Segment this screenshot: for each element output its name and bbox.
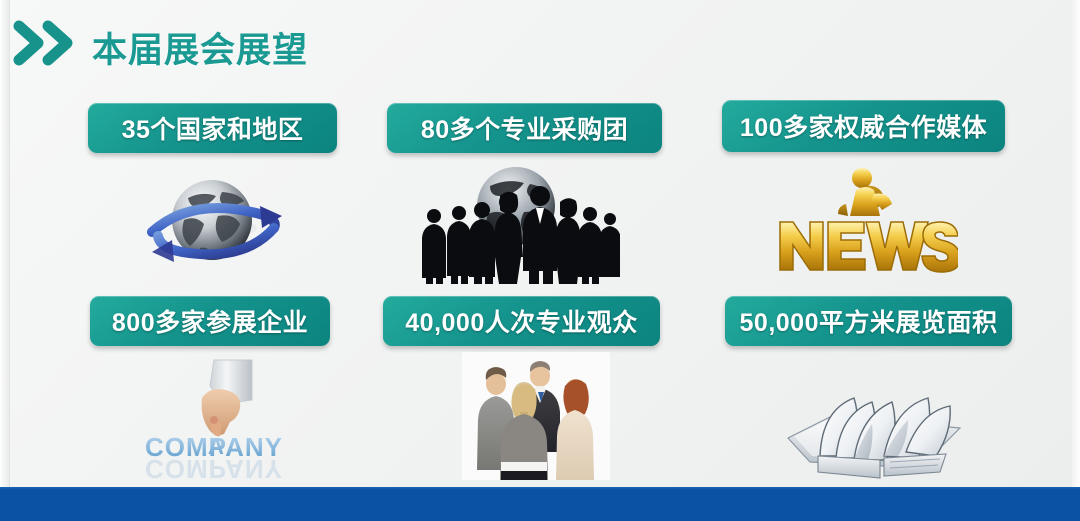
footer-highlight <box>0 487 1080 490</box>
stat-card-countries[interactable]: 35个国家和地区 <box>88 103 337 153</box>
stat-card-exhibitors[interactable]: 800多家参展企业 <box>90 296 330 346</box>
stat-label: 40,000人次专业观众 <box>405 303 637 339</box>
slide-header: 本届展会展望 <box>0 0 1080 86</box>
sydney-opera-house-image <box>780 352 966 484</box>
presentation-slide: 本届展会展望 35个国家和地区 80多个专业采购团 100多家权威合作媒体 <box>0 0 1080 521</box>
svg-text:COMPANY: COMPANY <box>145 454 283 482</box>
business-people-silhouettes-image <box>412 162 620 284</box>
hand-placing-company-letter-image: A COMPANY COMPANY <box>118 352 314 482</box>
stat-card-media-partners[interactable]: 100多家权威合作媒体 <box>722 100 1005 152</box>
stat-label: 35个国家和地区 <box>122 110 304 146</box>
stat-card-buyer-groups[interactable]: 80多个专业采购团 <box>387 103 662 153</box>
stat-label: 80多个专业采购团 <box>421 110 628 146</box>
business-team-photo-image <box>462 352 610 480</box>
page-title: 本届展会展望 <box>92 22 308 73</box>
stat-label: 800多家参展企业 <box>112 303 308 339</box>
stat-card-exhibition-area[interactable]: 50,000平方米展览面积 <box>725 296 1012 346</box>
double-chevron-right-icon <box>12 19 78 67</box>
globe-with-orbit-arrows-image <box>122 162 302 284</box>
stat-label: 50,000平方米展览面积 <box>740 303 998 339</box>
slide-footer-bar <box>0 487 1080 521</box>
golden-news-text-image <box>762 160 958 284</box>
stat-card-visitors[interactable]: 40,000人次专业观众 <box>383 296 660 346</box>
stat-label: 100多家权威合作媒体 <box>740 108 987 144</box>
